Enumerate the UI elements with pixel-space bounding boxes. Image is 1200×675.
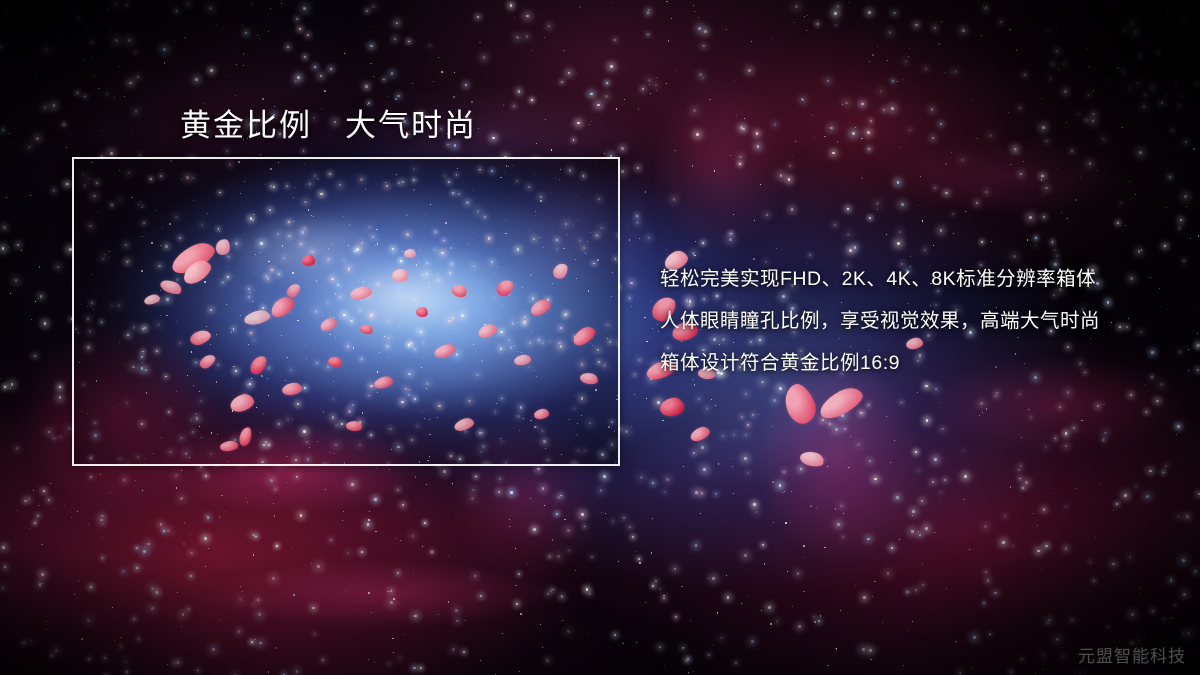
body-line-3: 箱体设计符合黄金比例16:9 [660,342,1180,384]
body-line-1: 轻松完美实现FHD、2K、4K、8K标准分辨率箱体 [660,258,1180,300]
rose-petal [816,382,867,423]
rose-petal [659,396,685,417]
rose-petal [780,380,821,428]
framed-image-panel [72,157,620,466]
slide-body-text: 轻松完美实现FHD、2K、4K、8K标准分辨率箱体 人体眼睛瞳孔比例，享受视觉效… [660,258,1180,384]
rose-petal [688,424,711,443]
framed-image-inner [74,159,618,464]
rose-petal [799,449,826,468]
watermark-logo-text: 元盟智能科技 [1078,642,1186,667]
panel-shading [74,159,618,464]
presentation-slide: 黄金比例 大气时尚 轻松完美实现FHD、2K、4K、8K标准分辨率箱体 人体眼睛… [0,0,1200,675]
slide-title: 黄金比例 大气时尚 [180,100,477,145]
body-line-2: 人体眼睛瞳孔比例，享受视觉效果，高端大气时尚 [660,300,1180,342]
